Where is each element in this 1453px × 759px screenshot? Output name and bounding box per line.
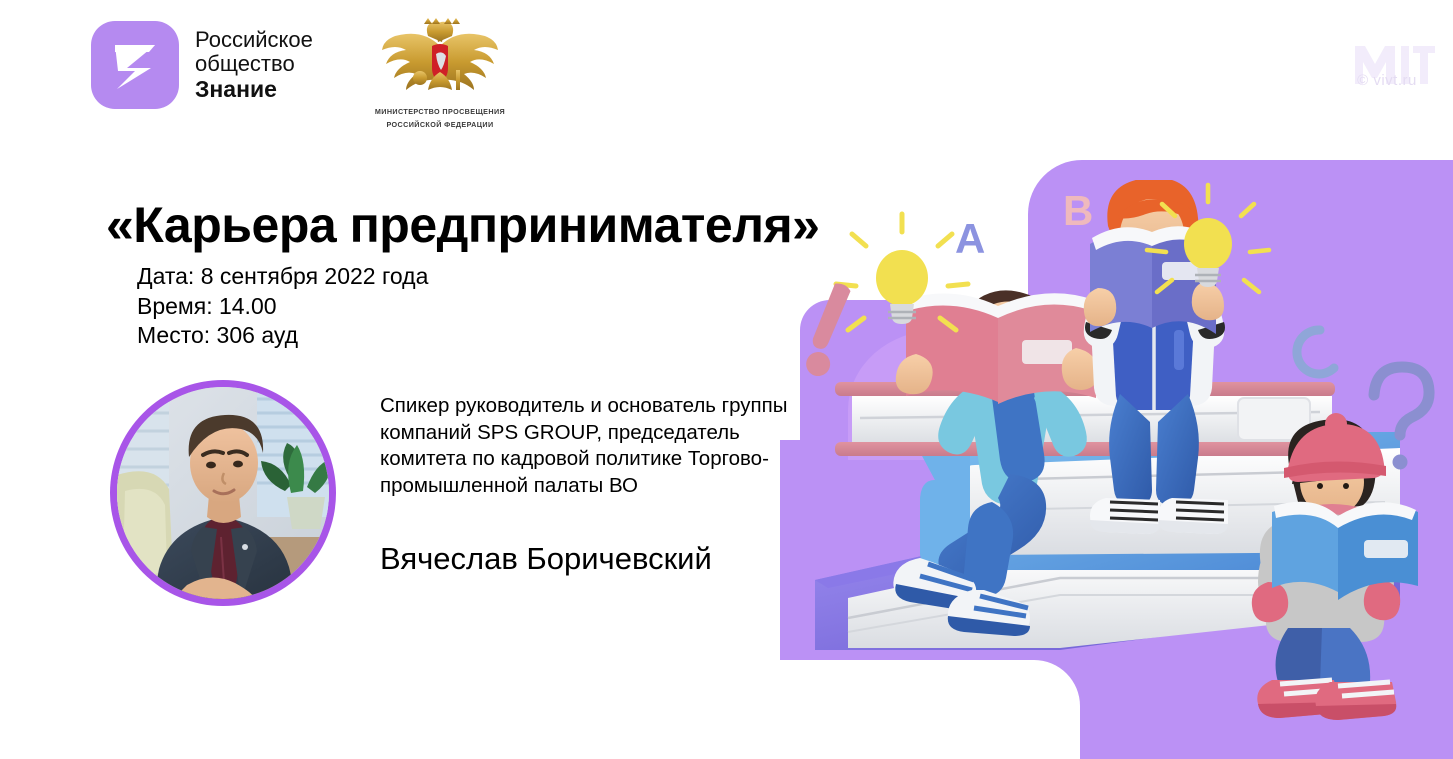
letter-c-icon [1297,330,1334,374]
znanie-line-3: Знание [195,77,313,103]
event-date: Дата: 8 сентября 2022 года [137,262,428,292]
speaker-photo [117,387,329,599]
event-details: Дата: 8 сентября 2022 года Время: 14.00 … [137,262,428,351]
ministry-logo: МИНИСТЕРСТВО ПРОСВЕЩЕНИЯ РОССИЙСКОЙ ФЕДЕ… [345,16,535,130]
event-place: Место: 306 ауд [137,321,428,351]
watermark: © vivt.ru [1335,12,1439,112]
speaker-description: Спикер руководитель и основатель группы … [380,393,800,499]
sneaker [1158,498,1228,534]
speaker-avatar [110,380,336,606]
znanie-line-1: Российское [195,28,313,53]
event-time: Время: 14.00 [137,292,428,322]
speaker-name: Вячеслав Боричевский [380,541,712,577]
pink-book-open [906,293,1096,404]
presentation-slide: A B Российское общество Знание [0,0,1453,759]
ministry-caption-line-2: РОССИЙСКОЙ ФЕДЕРАЦИИ [345,119,535,131]
letter-b-decoration: B [1063,190,1093,232]
watermark-url: © vivt.ru [1335,72,1439,89]
page-title: «Карьера предпринимателя» [106,196,819,254]
reading-characters-illustration [760,180,1453,740]
znanie-lightning-z-icon [91,21,179,109]
russian-double-headed-eagle-emblem [380,16,500,102]
exclamation-mark-icon [803,281,852,379]
ministry-caption-line-1: МИНИСТЕРСТВО ПРОСВЕЩЕНИЯ [345,106,535,118]
znanie-logo: Российское общество Знание [91,21,313,109]
letter-a-decoration: A [955,218,985,260]
mit-watermark-icon [1341,12,1437,86]
sneaker [1315,682,1396,720]
sneaker [1090,498,1160,534]
znanie-line-2: общество [195,52,313,77]
